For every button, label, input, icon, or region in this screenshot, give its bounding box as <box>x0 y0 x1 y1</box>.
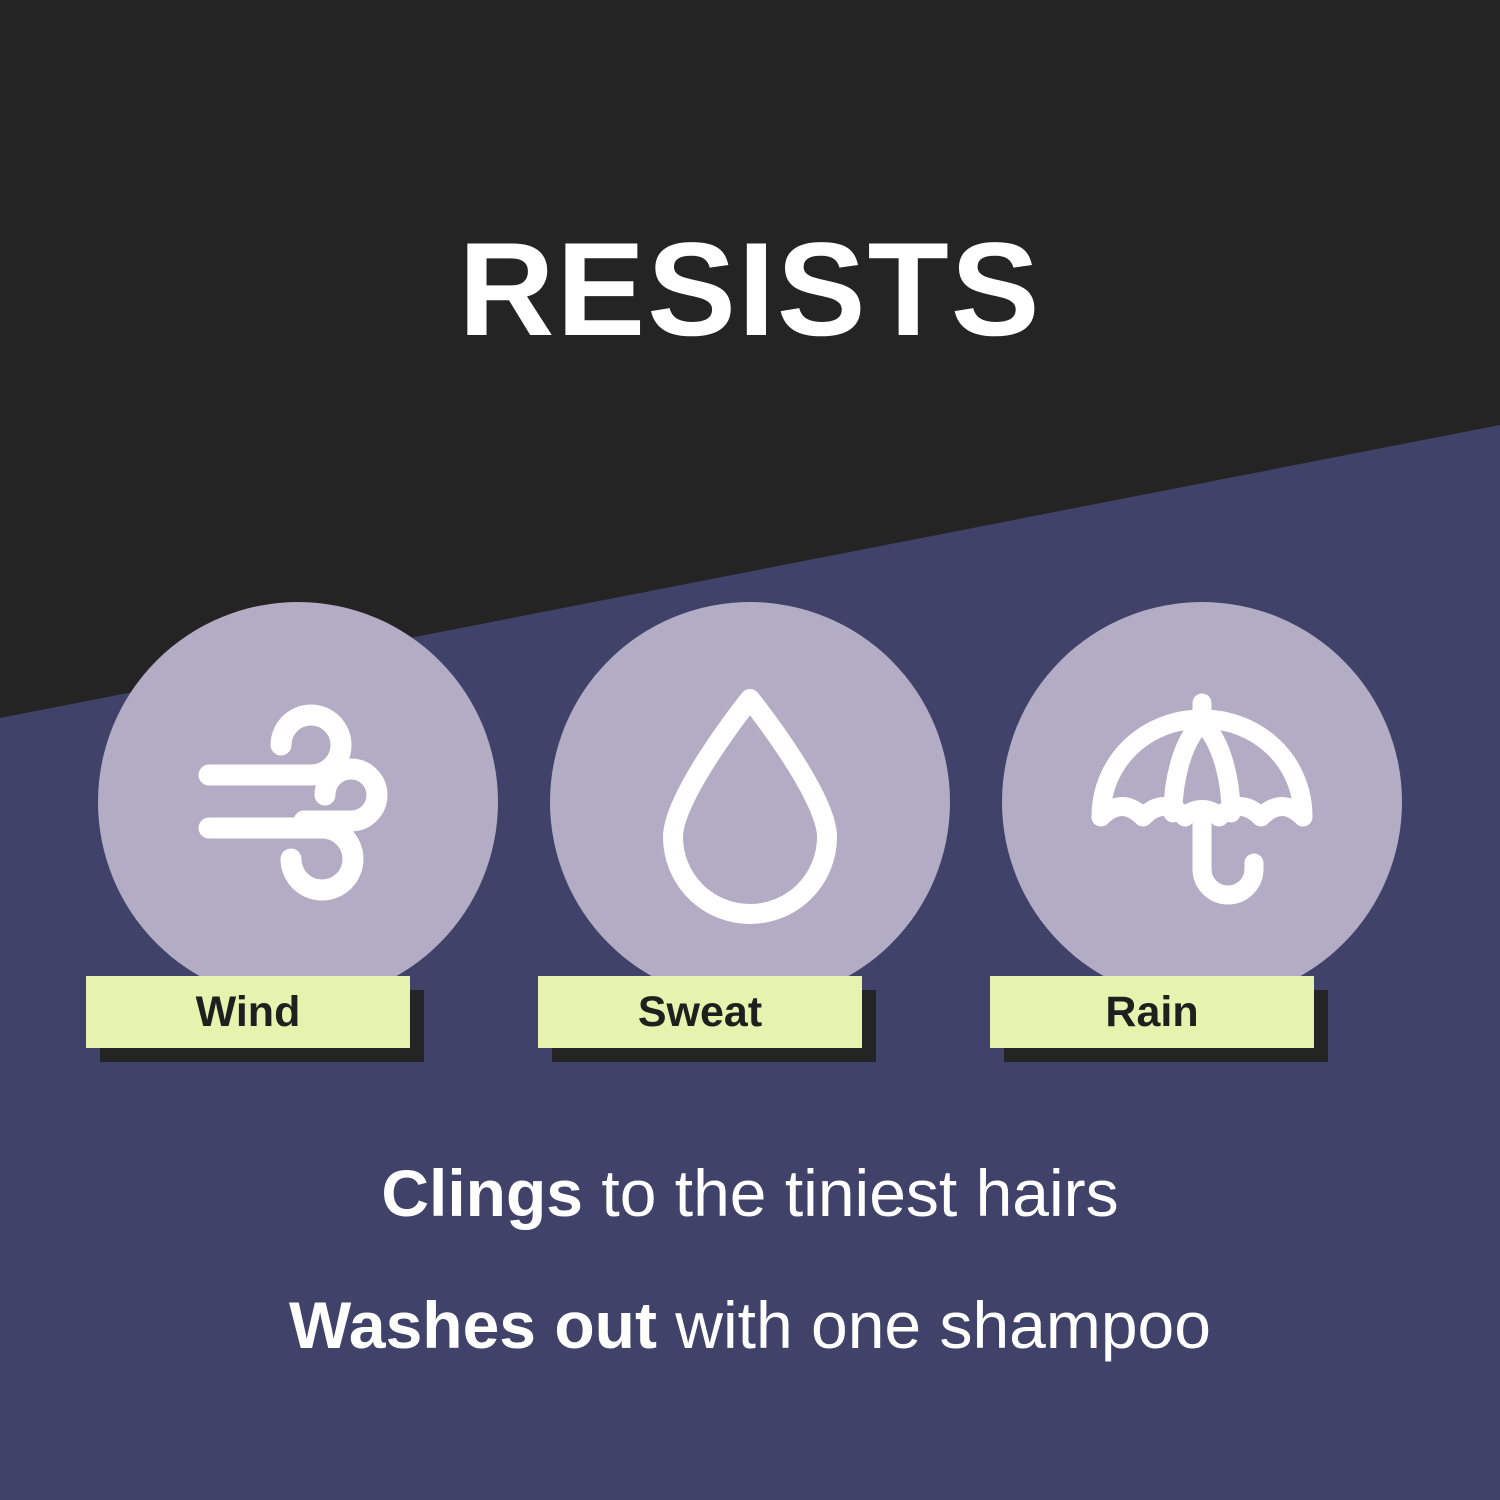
label-chip-wrap: Rain <box>976 967 1428 1062</box>
claim-line-2: Washes out with one shampoo <box>0 1292 1500 1358</box>
chip-label-text: Sweat <box>638 991 762 1034</box>
umbrella-icon <box>1077 677 1327 927</box>
feature-item-sweat: Sweat <box>524 602 976 1062</box>
icon-disc <box>1002 602 1402 1002</box>
claims-block: Clings to the tiniest hairs Washes out w… <box>0 1160 1500 1358</box>
icon-disc <box>550 602 950 1002</box>
label-chip[interactable]: Wind <box>86 976 410 1048</box>
wind-icon <box>183 687 413 917</box>
feature-row: Wind Sweat <box>0 602 1500 1062</box>
label-chip-wrap: Wind <box>72 967 524 1062</box>
label-chip[interactable]: Sweat <box>538 976 862 1048</box>
claim-2-rest: with one shampoo <box>657 1288 1211 1362</box>
claim-1-strong: Clings <box>381 1156 583 1230</box>
water-drop-icon <box>645 677 855 927</box>
poster-canvas: RESISTS Wind <box>0 0 1500 1500</box>
feature-item-rain: Rain <box>976 602 1428 1062</box>
label-chip[interactable]: Rain <box>990 976 1314 1048</box>
page-title: RESISTS <box>0 224 1500 357</box>
claim-2-strong: Washes out <box>289 1288 657 1362</box>
label-chip-wrap: Sweat <box>524 967 976 1062</box>
chip-label-text: Rain <box>1105 991 1198 1034</box>
chip-label-text: Wind <box>196 991 301 1034</box>
claim-1-rest: to the tiniest hairs <box>583 1156 1119 1230</box>
icon-disc <box>98 602 498 1002</box>
feature-item-wind: Wind <box>72 602 524 1062</box>
claim-line-1: Clings to the tiniest hairs <box>0 1160 1500 1226</box>
